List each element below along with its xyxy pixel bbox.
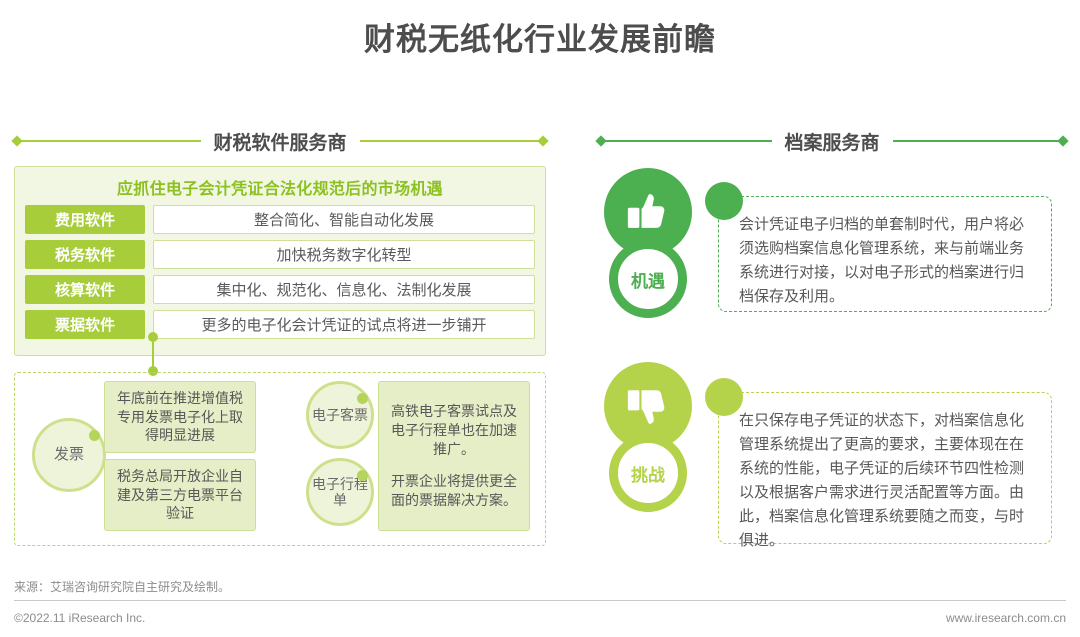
table-row: 费用软件 整合简化、智能自动化发展 [25,205,535,234]
source-note: 来源：艾瑞咨询研究院自主研究及绘制。 [14,578,230,595]
eitinerary-circle-label: 电子行程单 [306,458,374,526]
diamond-endpoint-icon [1057,135,1068,146]
rule-left [598,140,772,142]
eticket-label-text: 电子客票 [312,407,368,423]
row-text: 集中化、规范化、信息化、法制化发展 [153,275,535,304]
row-chip-label: 税务软件 [25,240,145,269]
row-text: 加快税务数字化转型 [153,240,535,269]
opportunity-text: 会计凭证电子归档的单套制时代，用户将必须选购档案信息化管理系统，来与前端业务系统… [718,196,1052,312]
rule-left [14,140,201,142]
circle-knob-icon [89,430,100,441]
page-title: 财税无纸化行业发展前瞻 [0,14,1080,59]
challenge-label: 挑战 [609,434,687,512]
rule-right [360,140,547,142]
software-rows: 费用软件 整合简化、智能自动化发展 税务软件 加快税务数字化转型 核算软件 集中… [25,205,535,339]
rule-right [893,140,1067,142]
invoice-circle-label: 发票 [32,418,106,492]
opportunity-label: 机遇 [609,240,687,318]
website-text: www.iresearch.com.cn [946,611,1066,625]
thumbs-down-icon [625,383,671,429]
copyright-text: ©2022.11 iResearch Inc. [14,611,145,625]
invoice-note-2: 税务总局开放企业自建及第三方电票平台验证 [104,459,256,531]
thumbs-up-icon [625,189,671,235]
diamond-endpoint-icon [595,135,606,146]
diamond-endpoint-icon [537,135,548,146]
footer-divider [14,600,1066,601]
row-chip-label: 核算软件 [25,275,145,304]
challenge-badge: 挑战 [604,362,708,512]
row-chip-label: 票据软件 [25,310,145,339]
eticket-circle-label: 电子客票 [306,381,374,449]
infographic-page: 财税无纸化行业发展前瞻 财税软件服务商 档案服务商 应抓住电子会计凭证合法化规范… [0,0,1080,637]
connector-dot-icon [148,332,158,342]
circle-knob-icon [357,393,368,404]
ticket-note-2: 开票企业将提供更全面的票据解决方案。 [387,472,521,510]
diamond-endpoint-icon [11,135,22,146]
table-row: 税务软件 加快税务数字化转型 [25,240,535,269]
row-chip-label: 费用软件 [25,205,145,234]
row-text: 更多的电子化会计凭证的试点将进一步铺开 [153,310,535,339]
section-header-left: 财税软件服务商 [14,128,546,154]
ticket-notes-box: 高铁电子客票试点及电子行程单也在加速推广。 开票企业将提供更全面的票据解决方案。 [378,381,530,531]
panel-title: 应抓住电子会计凭证合法化规范后的市场机遇 [15,175,545,199]
invoice-note-1: 年底前在推进增值税专用发票电子化上取得明显进展 [104,381,256,453]
ticket-note-1: 高铁电子客票试点及电子行程单也在加速推广。 [387,402,521,459]
opportunity-badge: 机遇 [604,168,708,318]
connector-line [152,336,154,372]
table-row: 核算软件 集中化、规范化、信息化、法制化发展 [25,275,535,304]
section-title-right: 档案服务商 [772,128,893,155]
section-header-right: 档案服务商 [598,128,1066,154]
software-vendor-panel: 应抓住电子会计凭证合法化规范后的市场机遇 费用软件 整合简化、智能自动化发展 税… [14,166,546,356]
table-row: 票据软件 更多的电子化会计凭证的试点将进一步铺开 [25,310,535,339]
section-title-left: 财税软件服务商 [201,128,360,155]
challenge-text: 在只保存电子凭证的状态下，对档案信息化管理系统提出了更高的要求，主要体现在在系统… [718,392,1052,544]
circle-knob-icon [357,470,368,481]
invoice-label-text: 发票 [54,446,84,463]
row-text: 整合简化、智能自动化发展 [153,205,535,234]
